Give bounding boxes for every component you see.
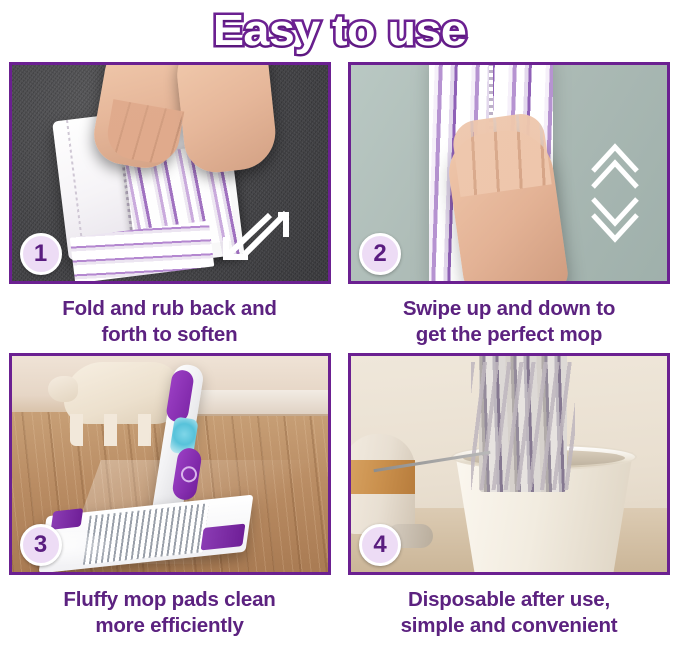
caption-line-1: Fluffy mop pads clean [63,587,275,613]
step-card-4: 4 Disposable after use, simple and conve… [339,353,679,645]
caption-line-2: get the perfect mop [403,322,615,348]
step-badge-3: 3 [20,524,62,566]
steps-grid: 1 Fold and rub back and forth to soften … [0,62,679,645]
step-image-2: 2 [348,62,670,284]
step-image-4: 4 [348,353,670,575]
step-badge-2: 2 [359,233,401,275]
step-badge-4: 4 [359,524,401,566]
used-mop-pad-fringe [471,362,575,490]
up-down-chevrons-icon [589,141,641,245]
caption-line-2: simple and convenient [401,613,618,639]
header: Easy to use [0,0,679,62]
fingers [450,111,551,197]
caption-line-1: Disposable after use, [401,587,618,613]
step-card-1: 1 Fold and rub back and forth to soften [0,62,339,353]
mop-head-tab [50,508,82,530]
caption-line-2: more efficiently [63,613,275,639]
caption-line-2: forth to soften [62,322,276,348]
step-image-3: 3 [9,353,331,575]
step-card-2: 2 Swipe up and down to get the perfect m… [339,62,679,353]
caption-line-1: Swipe up and down to [403,296,615,322]
back-and-forth-arrow-icon [220,207,294,265]
step-badge-1: 1 [20,233,62,275]
step-image-1: 1 [9,62,331,284]
step-caption-4: Disposable after use, simple and conveni… [401,587,618,638]
page-title: Easy to use [213,9,466,53]
caption-line-1: Fold and rub back and [62,296,276,322]
step-caption-3: Fluffy mop pads clean more efficiently [63,587,275,638]
step-caption-2: Swipe up and down to get the perfect mop [403,296,615,347]
step-caption-1: Fold and rub back and forth to soften [62,296,276,347]
cat-legs [70,414,178,446]
step-card-3: 3 Fluffy mop pads clean more efficiently [0,353,339,645]
